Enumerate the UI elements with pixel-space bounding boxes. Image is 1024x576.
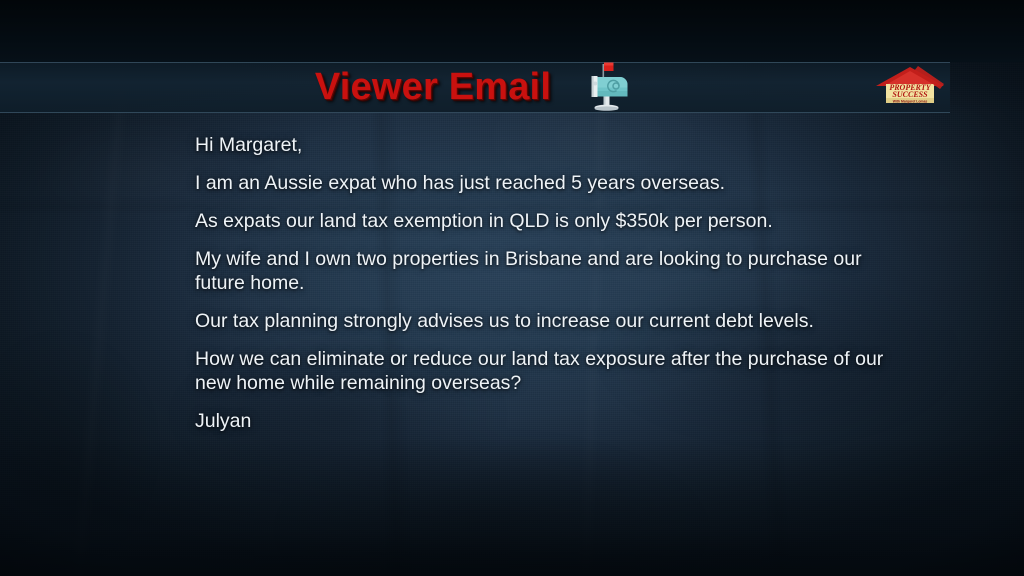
email-paragraph: Our tax planning strongly advises us to … <box>195 309 895 333</box>
email-paragraph: As expats our land tax exemption in QLD … <box>195 209 895 233</box>
property-success-logo[interactable]: PROPERTY SUCCESS With Margaret Lomas <box>874 62 946 107</box>
header-top-letterbox <box>0 0 1024 62</box>
logo-line2: SUCCESS <box>892 90 928 99</box>
logo-line3: With Margaret Lomas <box>893 100 928 104</box>
email-paragraph: How we can eliminate or reduce our land … <box>195 347 895 395</box>
header-band <box>0 62 950 113</box>
video-frame: Viewer Email <box>0 0 1024 576</box>
email-paragraph: I am an Aussie expat who has just reache… <box>195 171 895 195</box>
email-body: Hi Margaret, I am an Aussie expat who ha… <box>195 133 895 433</box>
email-paragraph: My wife and I own two properties in Bris… <box>195 247 895 295</box>
email-paragraph: Hi Margaret, <box>195 133 895 157</box>
email-signature: Julyan <box>195 409 895 433</box>
